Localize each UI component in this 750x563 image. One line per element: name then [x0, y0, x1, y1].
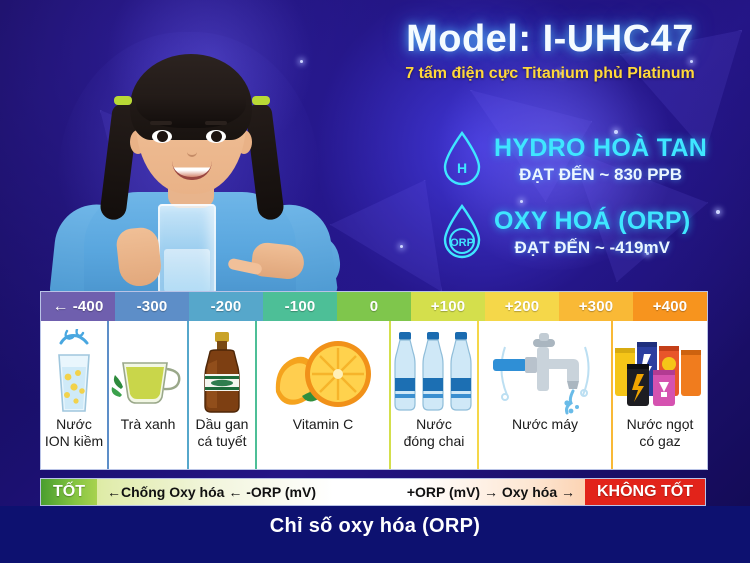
feature-orp-text: OXY HOÁ (ORP) ĐẠT ĐẾN ~ -419mV — [494, 207, 691, 258]
scale-item-cell: Nước ngọtcó gaz — [611, 321, 707, 469]
legend-bad-badge: KHÔNG TỐT — [585, 479, 705, 505]
feature-orp-title: OXY HOÁ (ORP) — [494, 207, 691, 236]
scale-cell-plus400: +400 — [633, 292, 707, 321]
scale-item-cell: Dầu gancá tuyết — [187, 321, 255, 469]
scale-item-cell: Nướcđóng chai — [389, 321, 477, 469]
polygon-shape — [330, 180, 442, 292]
legend-left-text: ←Chống Oxy hóa ← -ORP (mV) — [107, 484, 316, 500]
scale-cell-plus300: +300 — [559, 292, 633, 321]
scale-cell-label: +300 — [579, 298, 614, 315]
feature-hydro-title: HYDRO HOÀ TAN — [494, 134, 707, 163]
feature-orp-value: ĐẠT ĐẾN ~ -419mV — [494, 238, 691, 258]
arrow-left-icon: ← — [52, 298, 68, 316]
scale-item-cell: Vitamin C — [255, 321, 389, 469]
scale-cell-label: 0 — [370, 298, 379, 315]
page-subtitle: 7 tấm điện cực Titanium phủ Platinum — [355, 65, 745, 83]
scale-cell-minus400: ←-400 — [41, 292, 115, 321]
scale-item-label: Nước ngọtcó gaz — [625, 416, 696, 450]
scale-item-label: Nước máy — [510, 416, 580, 433]
cod-liver-oil-bottle-icon — [189, 328, 255, 416]
scale-item-label: Nướcđóng chai — [402, 416, 467, 450]
particle-dot — [400, 245, 403, 248]
drop-icon-label: ORP — [450, 237, 474, 249]
feature-hydro-value: ĐẠT ĐẾN ~ 830 PPB — [494, 165, 707, 185]
scale-item-label: NướcION kiềm — [43, 416, 105, 450]
hair-tie-left — [114, 96, 132, 105]
scale-cell-label: +400 — [653, 298, 688, 315]
drop-icon-label: H — [457, 160, 467, 176]
girl-nose — [187, 147, 197, 157]
water-drop-orp-icon: ORP — [440, 203, 484, 261]
particle-dot — [716, 210, 720, 214]
scale-cell-label: +100 — [431, 298, 466, 315]
scale-cell-label: -300 — [137, 298, 168, 315]
green-tea-cup-icon — [109, 328, 187, 416]
feature-hydro: H HYDRO HOÀ TAN ĐẠT ĐẾN ~ 830 PPB — [440, 130, 707, 188]
scale-item-label: Trà xanh — [119, 416, 178, 433]
water-glass-splash-icon — [41, 328, 107, 416]
scale-cell-plus100: +100 — [411, 292, 485, 321]
bottled-water-icon — [391, 328, 477, 416]
girl-brow-right — [205, 121, 227, 125]
scale-items-row: NướcION kiềm Trà xanh Dầu gancá tuyết — [41, 321, 707, 469]
scale-cell-label: -200 — [211, 298, 242, 315]
scale-cell-minus300: -300 — [115, 292, 189, 321]
scale-item-cell: Trà xanh — [107, 321, 187, 469]
orange-slices-icon — [257, 328, 389, 416]
scale-cell-minus200: -200 — [189, 292, 263, 321]
caption-text: Chỉ số oxy hóa (ORP) — [0, 515, 750, 538]
scale-item-label: Vitamin C — [291, 416, 355, 433]
girl-eye-right — [206, 130, 226, 143]
scale-cell-minus100: -100 — [263, 292, 337, 321]
scale-item-cell: Nước máy — [477, 321, 611, 469]
scale-cell-0: 0 — [337, 292, 411, 321]
hair-tie-right — [252, 96, 270, 105]
water-drop-hydrogen-icon: H — [440, 130, 484, 188]
water-glass — [158, 204, 216, 300]
legend-right-text: +ORP (mV) → Oxy hóa → — [407, 484, 575, 500]
scale-item-cell: NướcION kiềm — [41, 321, 107, 469]
scale-header-row: ←-400-300-200-1000+100+200+300+400 — [41, 292, 707, 321]
soda-cans-icon — [613, 328, 707, 416]
scale-cell-label: -400 — [73, 298, 104, 315]
headline-block: Model: I-UHC47 7 tấm điện cực Titanium p… — [355, 18, 745, 83]
scale-cell-label: -100 — [285, 298, 316, 315]
legend-good-badge: TỐT — [41, 479, 97, 505]
legend-bar: TỐT ←Chống Oxy hóa ← -ORP (mV) +ORP (mV)… — [40, 478, 706, 506]
scale-cell-label: +200 — [505, 298, 540, 315]
feature-hydro-text: HYDRO HOÀ TAN ĐẠT ĐẾN ~ 830 PPB — [494, 134, 707, 185]
scale-cell-plus200: +200 — [485, 292, 559, 321]
feature-orp: ORP OXY HOÁ (ORP) ĐẠT ĐẾN ~ -419mV — [440, 203, 691, 261]
poster-root: Model: I-UHC47 7 tấm điện cực Titanium p… — [0, 0, 750, 563]
legend-middle: ←Chống Oxy hóa ← -ORP (mV) +ORP (mV) → O… — [97, 479, 585, 505]
scale-item-label: Dầu gancá tuyết — [194, 416, 251, 450]
orp-scale-panel: ←-400-300-200-1000+100+200+300+400 NướcI… — [40, 291, 708, 470]
page-title: Model: I-UHC47 — [355, 18, 745, 61]
girl-brow-left — [150, 121, 172, 125]
hero-girl-image — [40, 8, 340, 300]
tap-faucet-icon — [479, 328, 611, 416]
girl-eye-left — [152, 130, 172, 143]
